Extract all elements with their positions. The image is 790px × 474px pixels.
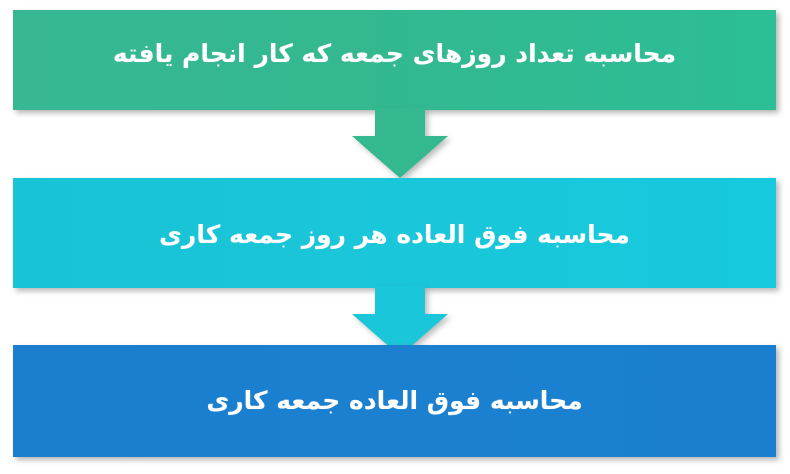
- process-box-label-step-2: محاسبه فوق العاده هر روز جمعه کاری: [159, 219, 630, 250]
- process-box-step-3[interactable]: محاسبه فوق العاده جمعه کاری: [13, 345, 776, 457]
- process-box-label-step-1: محاسبه تعداد روزهای جمعه که کار انجام یا…: [113, 38, 676, 69]
- down-arrow-icon: [352, 108, 448, 178]
- process-box-step-2[interactable]: محاسبه فوق العاده هر روز جمعه کاری: [13, 178, 776, 288]
- process-box-label-step-3: محاسبه فوق العاده جمعه کاری: [206, 385, 582, 416]
- process-box-step-1[interactable]: محاسبه تعداد روزهای جمعه که کار انجام یا…: [13, 10, 776, 110]
- flowchart-diagram: محاسبه تعداد روزهای جمعه که کار انجام یا…: [0, 0, 790, 474]
